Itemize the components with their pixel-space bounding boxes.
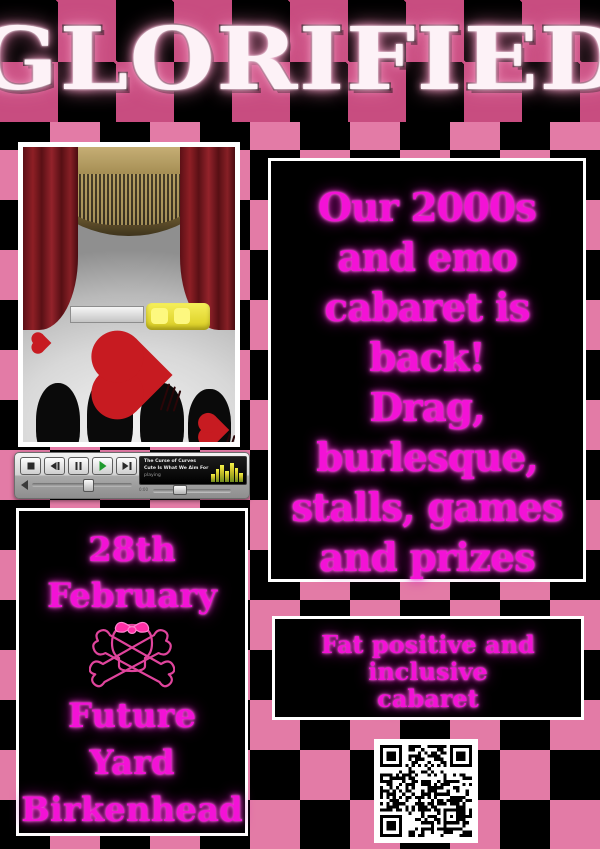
event-venue: FutureYardBirkenhead: [19, 693, 245, 834]
track-title: The Curse of Curves: [144, 458, 210, 465]
equalizer-bar: [211, 474, 215, 482]
media-player[interactable]: The Curse of Curves Cute Is What We Aim …: [14, 452, 250, 499]
skull-and-crossbones-icon: [89, 619, 175, 693]
equalizer-visualizer: [211, 462, 243, 482]
stage-rail: [70, 306, 144, 323]
volume-control[interactable]: [21, 479, 137, 491]
poster-header: GLORIFIED: [0, 0, 600, 122]
previous-button[interactable]: [44, 457, 65, 475]
now-playing-display: The Curse of Curves Cute Is What We Aim …: [139, 456, 247, 485]
event-poster: GLORIFIED: [0, 0, 600, 849]
equalizer-bar: [216, 469, 220, 482]
text-line: stalls, games: [271, 483, 583, 533]
seek-track[interactable]: [153, 489, 231, 493]
text-line: inclusive: [275, 658, 581, 685]
text-line: cabaret is: [271, 283, 583, 333]
now-playing-text: The Curse of Curves Cute Is What We Aim …: [144, 458, 210, 479]
text-line: and emo: [271, 233, 583, 283]
text-line: cabaret: [275, 685, 581, 712]
date-venue-panel: 28thFebruary FutureYardBirkenhead: [16, 508, 248, 836]
equalizer-bar: [235, 468, 239, 482]
equalizer-bar: [220, 465, 224, 482]
main-message-text: Our 2000sand emocabaret isback!Drag,burl…: [271, 183, 583, 583]
elapsed-time: 0:00: [139, 487, 148, 492]
text-line: 28th: [19, 527, 245, 573]
seek-control[interactable]: 0:00: [139, 486, 245, 495]
seek-knob[interactable]: [173, 485, 187, 495]
yellow-prop: [146, 303, 210, 330]
inclusive-text: Fat positive andinclusivecabaret: [275, 631, 581, 712]
pause-button[interactable]: [68, 457, 89, 475]
track-artist: Cute Is What We Aim For: [144, 465, 210, 472]
event-date: 28thFebruary: [19, 527, 245, 619]
text-line: Drag,: [271, 383, 583, 433]
text-line: Future: [19, 693, 245, 740]
text-line: Fat positive and: [275, 631, 581, 658]
inclusive-panel: Fat positive andinclusivecabaret: [272, 616, 584, 720]
text-line: Birkenhead: [19, 787, 245, 834]
qr-code[interactable]: [374, 739, 478, 843]
equalizer-bar: [230, 463, 234, 482]
text-line: burlesque,: [271, 433, 583, 483]
stage-photo: [23, 147, 235, 442]
play-button[interactable]: [92, 457, 113, 475]
text-line: Our 2000s: [271, 183, 583, 233]
stage-photo-card: [18, 142, 240, 447]
next-button[interactable]: [116, 457, 137, 475]
poster-title: GLORIFIED: [0, 4, 600, 116]
speaker-icon: [21, 480, 28, 490]
text-line: and prizes: [271, 533, 583, 583]
volume-knob[interactable]: [83, 479, 94, 492]
text-line: February: [19, 573, 245, 619]
player-status: playing: [144, 472, 210, 479]
main-message-panel: Our 2000sand emocabaret isback!Drag,burl…: [268, 158, 586, 582]
equalizer-bar: [225, 471, 229, 482]
volume-track[interactable]: [32, 483, 132, 487]
text-line: back!: [271, 333, 583, 383]
equalizer-bar: [239, 473, 243, 482]
stop-button[interactable]: [20, 457, 41, 475]
text-line: Yard: [19, 740, 245, 787]
